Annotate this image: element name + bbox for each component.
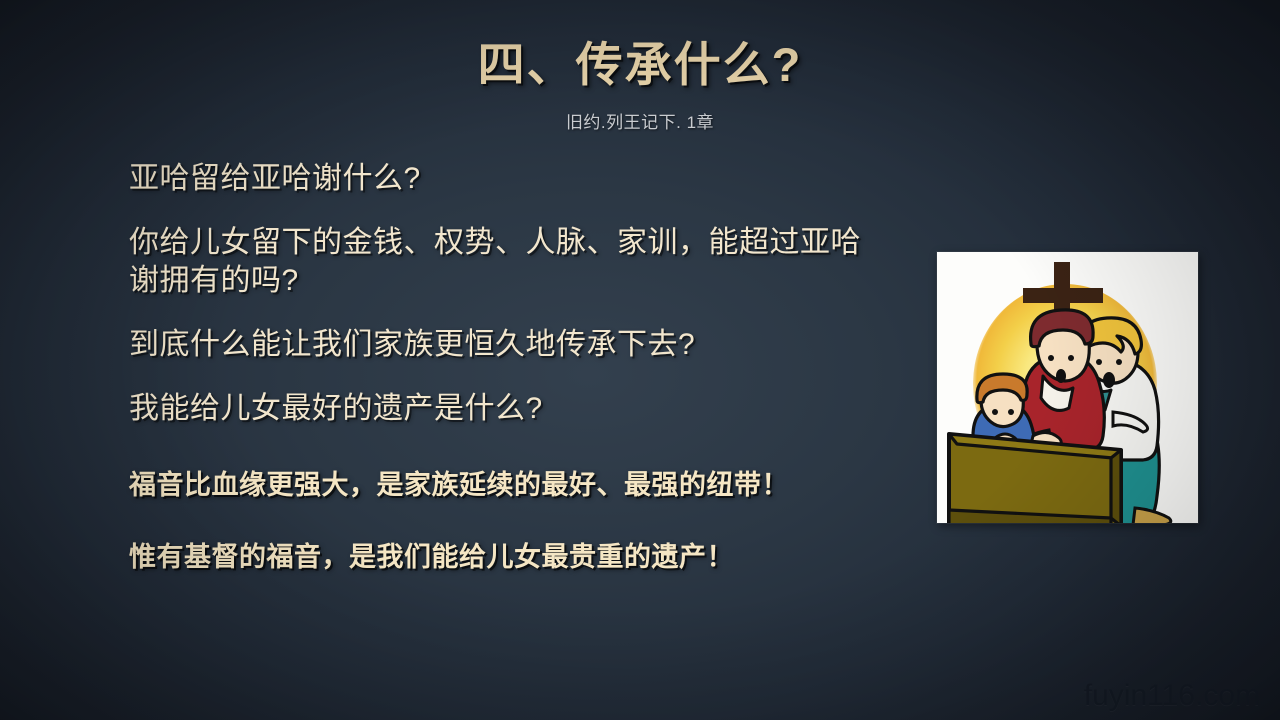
- emphasis-line-2: 惟有基督的福音，是我们能给儿女最贵重的遗产！: [129, 540, 877, 574]
- question-line-2: 你给儿女留下的金钱、权势、人脉、家训，能超过亚哈谢拥有的吗?: [129, 224, 877, 300]
- question-line-1: 亚哈留给亚哈谢什么?: [129, 160, 877, 198]
- family-praying-at-cross-image: [937, 252, 1198, 523]
- presentation-slide: 四、传承什么? 旧约.列王记下. 1章 亚哈留给亚哈谢什么? 你给儿女留下的金钱…: [0, 0, 1280, 720]
- question-line-3: 到底什么能让我们家族更恒久地传承下去?: [129, 326, 877, 364]
- emphasis-line-1: 福音比血缘更强大，是家族延续的最好、最强的纽带！: [129, 468, 877, 502]
- site-watermark: fuyin116.com: [1084, 679, 1260, 713]
- slide-body-text-column: 亚哈留给亚哈谢什么? 你给儿女留下的金钱、权势、人脉、家训，能超过亚哈谢拥有的吗…: [129, 160, 877, 612]
- slide-title: 四、传承什么?: [0, 26, 1280, 95]
- question-line-4: 我能给儿女最好的遗产是什么?: [129, 390, 877, 428]
- family-praying-icon: [937, 252, 1198, 523]
- slide-subtitle-scripture-reference: 旧约.列王记下. 1章: [0, 108, 1280, 133]
